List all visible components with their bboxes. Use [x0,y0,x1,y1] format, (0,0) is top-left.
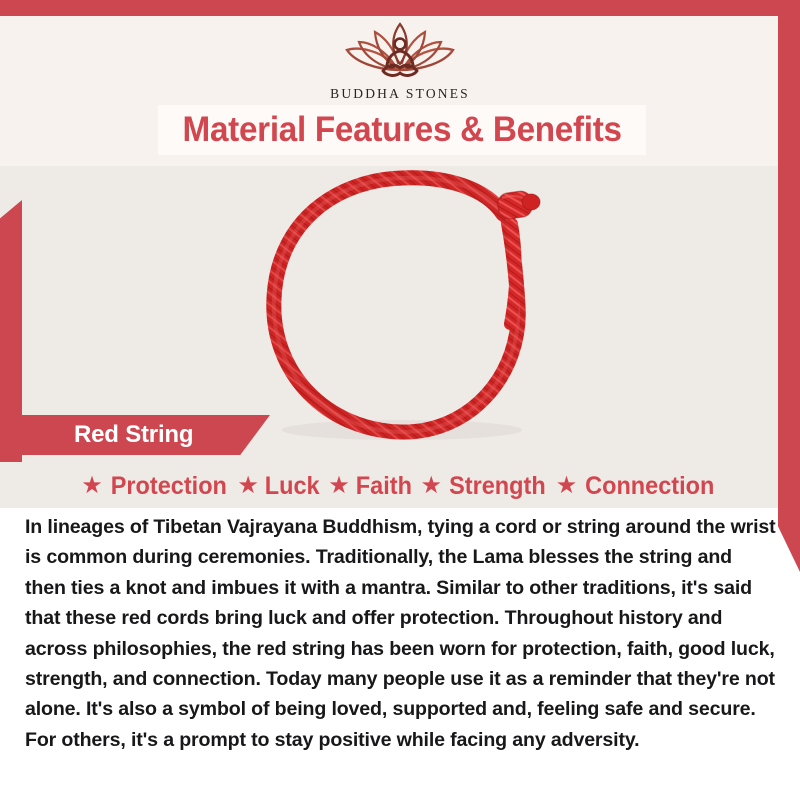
star-icon: ★ [81,474,103,498]
product-image [250,158,570,458]
benefit-item-protection: ★ Protection [81,472,230,501]
brand-name: BUDDHA STONES [330,86,470,102]
benefit-label: Faith [356,472,412,501]
infographic-page: BUDDHA STONES Material Features & Benefi… [0,0,800,800]
lotus-meditation-icon [325,18,475,84]
benefit-label: Protection [110,472,226,501]
page-title-band: Material Features & Benefits [158,105,646,155]
description-text: In lineages of Tibetan Vajrayana Buddhis… [25,512,777,755]
page-title: Material Features & Benefits [182,110,621,150]
benefit-item-luck: ★ Luck [237,472,321,501]
section-ribbon: Red String [22,415,270,455]
benefits-row: ★ Protection ★ Luck ★ Faith ★ Strength ★… [0,465,800,507]
benefit-label: Luck [265,472,320,501]
benefit-item-faith: ★ Faith [328,472,413,501]
benefit-label: Strength [449,472,546,501]
star-icon: ★ [420,474,442,498]
brand-logo: BUDDHA STONES [0,18,800,102]
section-ribbon-label: Red String [74,421,193,449]
star-icon: ★ [328,474,350,498]
star-icon: ★ [556,474,578,498]
benefit-item-strength: ★ Strength [420,472,548,501]
benefit-label: Connection [585,472,714,501]
decor-bar-top [0,0,800,16]
decor-bar-left [0,200,22,462]
benefit-item-connection: ★ Connection [556,472,719,501]
star-icon: ★ [237,474,259,498]
